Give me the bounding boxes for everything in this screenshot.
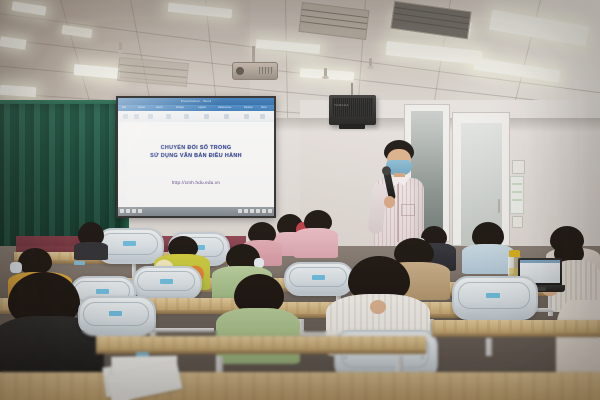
- word-document-body: CHUYỂN ĐỔI SỐ TRONG SỬ DỤNG VĂN BẢN ĐIỀU…: [118, 122, 274, 207]
- projection-screen: Presentation - Word File Home Insert Des…: [118, 98, 274, 216]
- word-title-text: Presentation - Word: [181, 99, 211, 103]
- projector-body: [232, 62, 278, 80]
- slide-title-block: CHUYỂN ĐỔI SỐ TRONG SỬ DỤNG VĂN BẢN ĐIỀU…: [118, 144, 274, 160]
- desk-front-edge: [0, 372, 600, 400]
- slide-title-line2: SỬ DỤNG VĂN BẢN ĐIỀU HÀNH: [118, 152, 274, 160]
- taskbar-tray-icons[interactable]: [238, 209, 272, 213]
- sprinkler-head: [324, 68, 327, 77]
- attendee-pink: [294, 210, 338, 256]
- projector: [232, 62, 276, 81]
- taskbar-left-icons[interactable]: [120, 209, 142, 213]
- slide-title-line1: CHUYỂN ĐỔI SỐ TRONG: [118, 144, 274, 152]
- windows-taskbar: [118, 207, 274, 216]
- presenter-shirt-placket: [397, 184, 399, 242]
- ribbon-tab-review[interactable]: Review: [244, 106, 253, 109]
- slide-url: http://cmh.hdu.edu.vn: [118, 180, 274, 185]
- ribbon-tab-insert[interactable]: Insert: [156, 106, 163, 109]
- presenter-shirt-pocket: [401, 204, 415, 216]
- chair[interactable]: [452, 276, 534, 316]
- chair[interactable]: [78, 296, 152, 332]
- sprinkler-head: [119, 42, 122, 51]
- presenter-hand: [384, 196, 395, 208]
- speaker-brand-label: YAMAHA: [334, 103, 349, 107]
- word-title-bar: Presentation - Word: [118, 98, 274, 105]
- photo-scene: YAMAHA Presentation - Word File Home Ins…: [0, 0, 600, 400]
- speaker-bracket: [351, 83, 353, 95]
- projector-mount-arm: [252, 46, 255, 63]
- ribbon-tab-file[interactable]: File: [122, 106, 126, 109]
- door-handle[interactable]: [498, 199, 500, 213]
- ribbon-tab-home[interactable]: Home: [138, 106, 145, 109]
- wall-speaker: YAMAHA: [329, 95, 376, 125]
- light-switch-panel[interactable]: [512, 160, 525, 174]
- ribbon-tab-layout[interactable]: Layout: [198, 106, 206, 109]
- wall-notice-sign: [510, 176, 524, 214]
- speaker-grille: [332, 98, 373, 117]
- desk-row4-right: [432, 320, 600, 354]
- ribbon-tab-design[interactable]: Design: [176, 106, 184, 109]
- paper-stack[interactable]: [102, 352, 192, 400]
- projector-vent: [259, 67, 273, 74]
- ribbon-tab-references[interactable]: References: [218, 106, 231, 109]
- sprinkler-head: [369, 58, 372, 67]
- attendee: [74, 222, 108, 258]
- chair[interactable]: [132, 266, 198, 296]
- attendee: [462, 222, 514, 270]
- projector-lens: [236, 67, 244, 75]
- ribbon-tab-view[interactable]: View: [261, 106, 267, 109]
- ceiling-grid-line: [285, 0, 288, 125]
- speaker-base: [339, 124, 365, 129]
